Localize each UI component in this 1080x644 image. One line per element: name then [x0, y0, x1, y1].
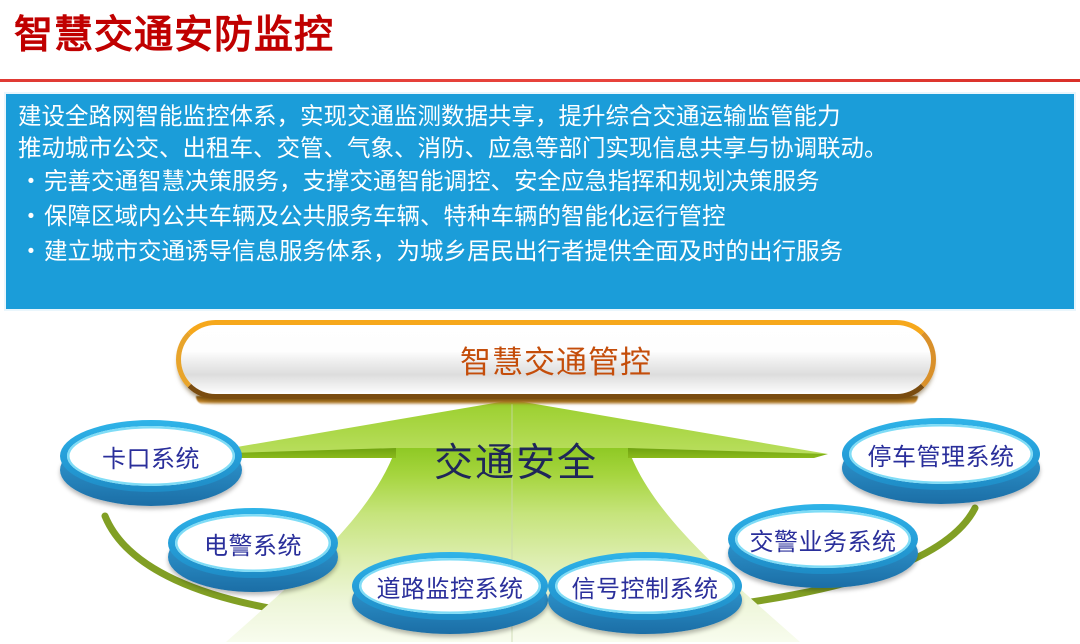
- page-title: 智慧交通安防监控: [14, 14, 334, 59]
- node-inner-fill: 道路监控系统: [359, 558, 541, 614]
- description-bullet-text: 建立城市交通诱导信息服务体系，为城乡居民出行者提供全面及时的出行服务: [44, 234, 843, 269]
- slide-canvas: 智慧交通安防监控 建设全路网智能监控体系，实现交通监测数据共享，提升综合交通运输…: [0, 0, 1080, 644]
- title-divider: [0, 79, 1080, 82]
- description-bullet-item: • 完善交通智慧决策服务，支撑交通智能调控、安全应急指挥和规划决策服务: [18, 164, 1064, 199]
- node-signal-control-system[interactable]: 信号控制系统: [548, 552, 742, 620]
- node-electronic-police-system[interactable]: 电警系统: [168, 508, 338, 578]
- node-parking-management-system[interactable]: 停车管理系统: [842, 418, 1040, 490]
- node-label: 信号控制系统: [572, 569, 719, 604]
- node-ring: 电警系统: [168, 508, 338, 578]
- description-paragraph: 推动城市公交、出租车、交管、气象、消防、应急等部门实现信息共享与协调联动。: [18, 132, 1064, 164]
- node-road-monitoring-system[interactable]: 道路监控系统: [352, 552, 548, 620]
- node-label: 交警业务系统: [750, 522, 897, 557]
- node-inner-fill: 交警业务系统: [735, 510, 911, 568]
- description-paragraph: 建设全路网智能监控体系，实现交通监测数据共享，提升综合交通运输监管能力: [18, 100, 1064, 132]
- bullet-dot-icon: •: [18, 234, 44, 269]
- description-bullet-text: 保障区域内公共车辆及公共服务车辆、特种车辆的智能化运行管控: [44, 199, 726, 234]
- arrow-label: 交通安全: [434, 432, 598, 488]
- node-inner-fill: 卡口系统: [67, 426, 235, 486]
- node-ring: 停车管理系统: [842, 418, 1040, 490]
- description-bullet-text: 完善交通智慧决策服务，支撑交通智能调控、安全应急指挥和规划决策服务: [44, 164, 820, 199]
- node-label: 道路监控系统: [377, 569, 524, 604]
- bullet-dot-icon: •: [18, 199, 44, 234]
- node-checkpoint-system[interactable]: 卡口系统: [60, 420, 242, 492]
- node-inner-fill: 电警系统: [175, 514, 331, 572]
- description-bullet-item: • 建立城市交通诱导信息服务体系，为城乡居民出行者提供全面及时的出行服务: [18, 234, 1064, 269]
- center-pill-label: 智慧交通管控: [460, 337, 652, 382]
- bullet-dot-icon: •: [18, 164, 44, 199]
- center-pill-smart-traffic-control[interactable]: 智慧交通管控: [176, 320, 936, 399]
- node-ring: 卡口系统: [60, 420, 242, 492]
- node-label: 停车管理系统: [868, 437, 1015, 472]
- node-label: 卡口系统: [102, 439, 200, 474]
- node-ring: 交警业务系统: [728, 504, 918, 574]
- description-bullet-item: • 保障区域内公共车辆及公共服务车辆、特种车辆的智能化运行管控: [18, 199, 1064, 234]
- node-inner-fill: 信号控制系统: [555, 558, 735, 614]
- node-label: 电警系统: [204, 526, 302, 561]
- node-ring: 道路监控系统: [352, 552, 548, 620]
- node-inner-fill: 停车管理系统: [849, 424, 1033, 484]
- description-panel: 建设全路网智能监控体系，实现交通监测数据共享，提升综合交通运输监管能力 推动城市…: [4, 92, 1076, 311]
- node-ring: 信号控制系统: [548, 552, 742, 620]
- node-traffic-police-service-system[interactable]: 交警业务系统: [728, 504, 918, 574]
